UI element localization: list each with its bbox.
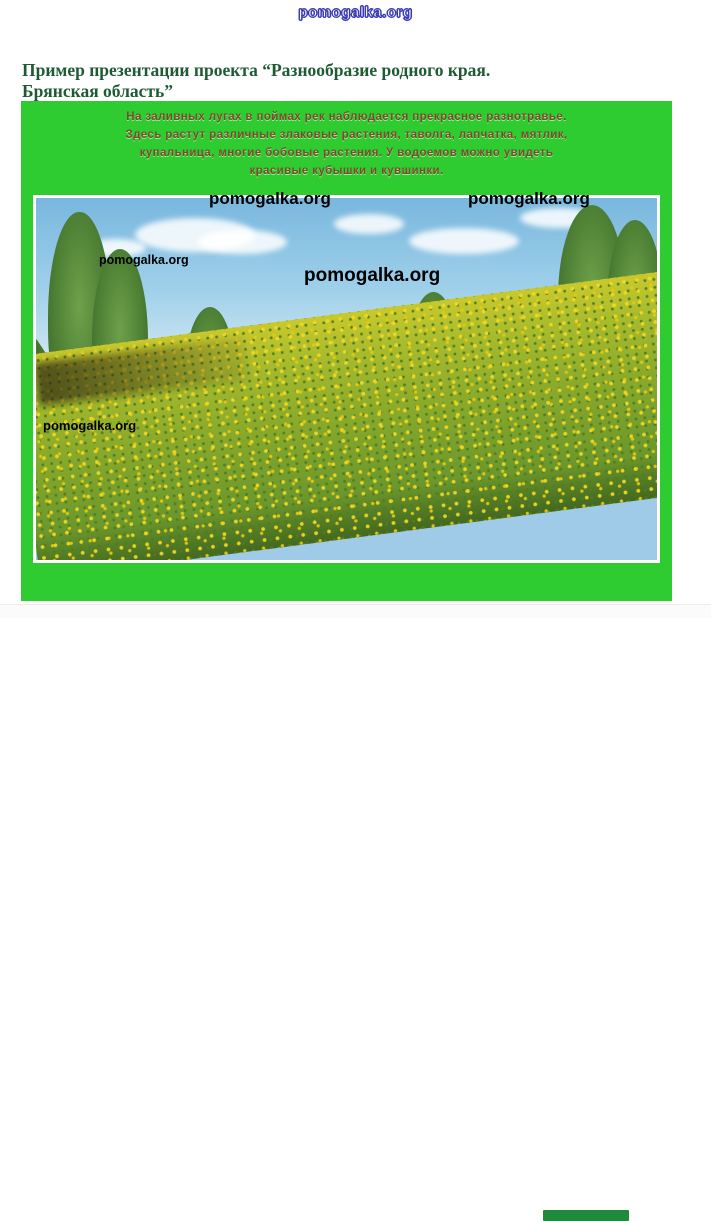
watermark-photo-sky-center: pomogalka.org — [304, 265, 440, 287]
page-title: Пример презентации проекта “Разнообразие… — [22, 60, 662, 102]
watermark-slide-top-left: pomogalka.org — [209, 189, 331, 209]
slide-caption-line-4: красивые кубышки и кувшинки. — [39, 162, 654, 180]
watermark-photo-meadow-left: pomogalka.org — [43, 418, 136, 433]
watermark-photo-sky-left: pomogalka.org — [99, 253, 189, 267]
slide-caption-line-1: На заливных лугах в поймах рек наблюдает… — [39, 108, 654, 126]
bottom-strip-accent — [543, 1210, 629, 1221]
slide-photo-frame — [33, 195, 660, 563]
slide-caption: На заливных лугах в поймах рек наблюдает… — [21, 108, 672, 180]
slide-caption-line-3: купальница, многие бобовые растения. У в… — [39, 144, 654, 162]
watermark-top-outlined: pomogalka.org — [0, 4, 711, 21]
presentation-slide: На заливных лугах в поймах рек наблюдает… — [21, 101, 672, 601]
watermark-slide-top-right: pomogalka.org — [468, 189, 590, 209]
page-title-line-1: Пример презентации проекта “Разнообразие… — [22, 60, 490, 80]
page-title-line-2: Брянская область” — [22, 81, 173, 101]
slide-caption-line-2: Здесь растут различные злаковые растения… — [39, 126, 654, 144]
page-bottom-strip — [0, 604, 711, 618]
